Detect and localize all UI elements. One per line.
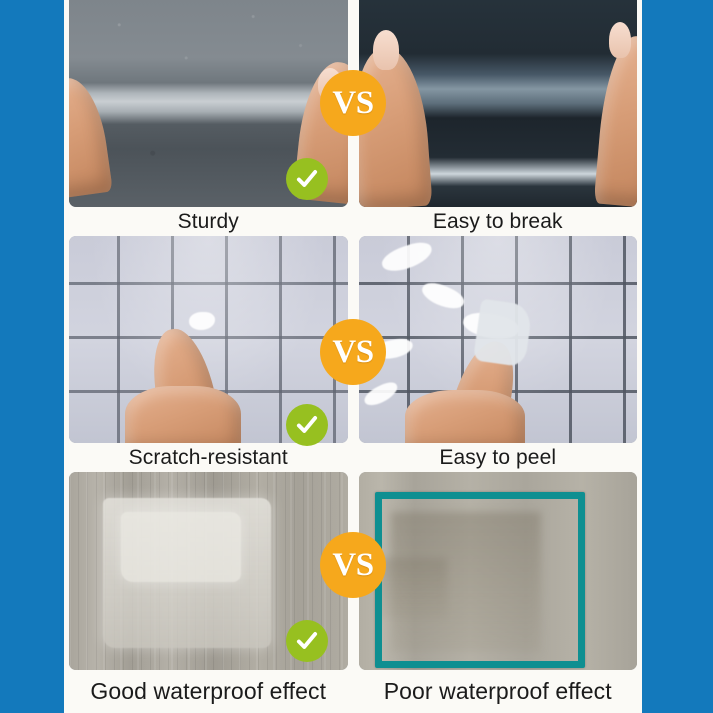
- vs-label: VS: [332, 87, 373, 120]
- label-good-waterproof: Good waterproof effect: [69, 670, 348, 713]
- label-easy-to-break: Easy to break: [359, 207, 638, 236]
- check-mark-icon: [294, 628, 320, 654]
- thumbnail-break-left: [373, 30, 399, 70]
- photo-poor-waterproof[interactable]: [359, 472, 638, 670]
- row-labels-strength: Sturdy Easy to break: [64, 207, 642, 236]
- content-panel: VS Sturdy Easy to break: [64, 0, 642, 713]
- comparison-infographic: VS Sturdy Easy to break: [0, 0, 713, 713]
- vs-badge-strength: VS: [320, 70, 386, 136]
- label-sturdy: Sturdy: [69, 207, 348, 236]
- check-mark-icon: [294, 412, 320, 438]
- comparison-row-strength: VS Sturdy Easy to break: [64, 0, 642, 236]
- label-easy-to-peel: Easy to peel: [359, 443, 638, 472]
- check-badge-waterproof: [286, 620, 328, 662]
- check-badge-strength: [286, 158, 328, 200]
- row-labels-scratch: Scratch-resistant Easy to peel: [64, 443, 642, 472]
- comparison-row-waterproof: VS Good waterproof effect Poor waterproo…: [64, 472, 642, 713]
- vs-label: VS: [332, 336, 373, 369]
- vs-badge-waterproof: VS: [320, 532, 386, 598]
- photo-easy-to-break[interactable]: [359, 0, 638, 207]
- vs-badge-scratch: VS: [320, 319, 386, 385]
- photo-easy-to-peel[interactable]: [359, 236, 638, 443]
- label-poor-waterproof: Poor waterproof effect: [359, 670, 638, 713]
- sealed-patch-highlight: [121, 512, 241, 582]
- thumbnail-break-right: [609, 22, 631, 58]
- peel-sheet-large: [472, 299, 532, 368]
- check-badge-scratch: [286, 404, 328, 446]
- check-mark-icon: [294, 166, 320, 192]
- hand-palm-scratch: [125, 386, 241, 443]
- row-labels-waterproof: Good waterproof effect Poor waterproof e…: [64, 670, 642, 713]
- teal-tape-square: [375, 492, 585, 668]
- comparison-row-scratch: VS Scratch-resistant Easy to peel: [64, 236, 642, 472]
- hand-palm-peel: [405, 390, 525, 443]
- label-scratch-resistant: Scratch-resistant: [69, 443, 348, 472]
- vs-label: VS: [332, 549, 373, 582]
